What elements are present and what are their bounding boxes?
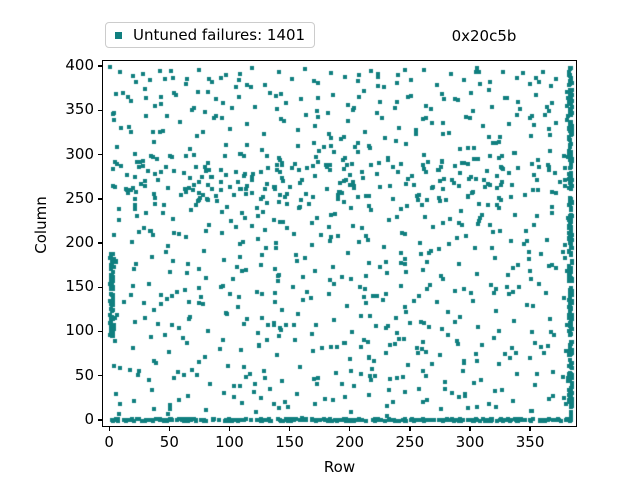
scatter-plot-canvas	[103, 61, 577, 427]
x-tick-mark	[229, 427, 230, 431]
x-tick-label: 300	[440, 435, 500, 450]
x-tick-mark	[169, 427, 170, 431]
x-tick-label: 250	[380, 435, 440, 450]
chart-title: 0x20c5b	[0, 27, 640, 45]
x-tick-label: 50	[139, 435, 199, 450]
y-tick-label: 400	[34, 58, 94, 73]
figure-canvas: Untuned failures: 1401 0x20c5b Column Ro…	[0, 0, 640, 480]
y-tick-label: 250	[34, 191, 94, 206]
y-tick-label: 100	[34, 323, 94, 338]
y-axis-label: Column	[32, 165, 50, 285]
legend-square-marker-icon	[115, 32, 122, 39]
y-tick-label: 300	[34, 147, 94, 162]
x-axis-label: Row	[102, 458, 577, 476]
x-tick-mark	[409, 427, 410, 431]
x-tick-label: 200	[320, 435, 380, 450]
x-tick-label: 100	[199, 435, 259, 450]
x-tick-mark	[529, 427, 530, 431]
x-tick-label: 0	[79, 435, 139, 450]
y-tick-label: 200	[34, 235, 94, 250]
legend: Untuned failures: 1401	[105, 22, 315, 48]
y-tick-label: 150	[34, 279, 94, 294]
x-tick-label: 350	[500, 435, 560, 450]
x-tick-mark	[469, 427, 470, 431]
y-tick-label: 50	[34, 368, 94, 383]
x-tick-mark	[289, 427, 290, 431]
y-tick-label: 0	[34, 412, 94, 427]
chart-title-text: 0x20c5b	[452, 27, 517, 45]
x-tick-mark	[349, 427, 350, 431]
plot-area	[102, 60, 577, 427]
y-tick-label: 350	[34, 102, 94, 117]
legend-label: Untuned failures: 1401	[133, 28, 305, 43]
x-tick-label: 150	[260, 435, 320, 450]
x-tick-mark	[109, 427, 110, 431]
